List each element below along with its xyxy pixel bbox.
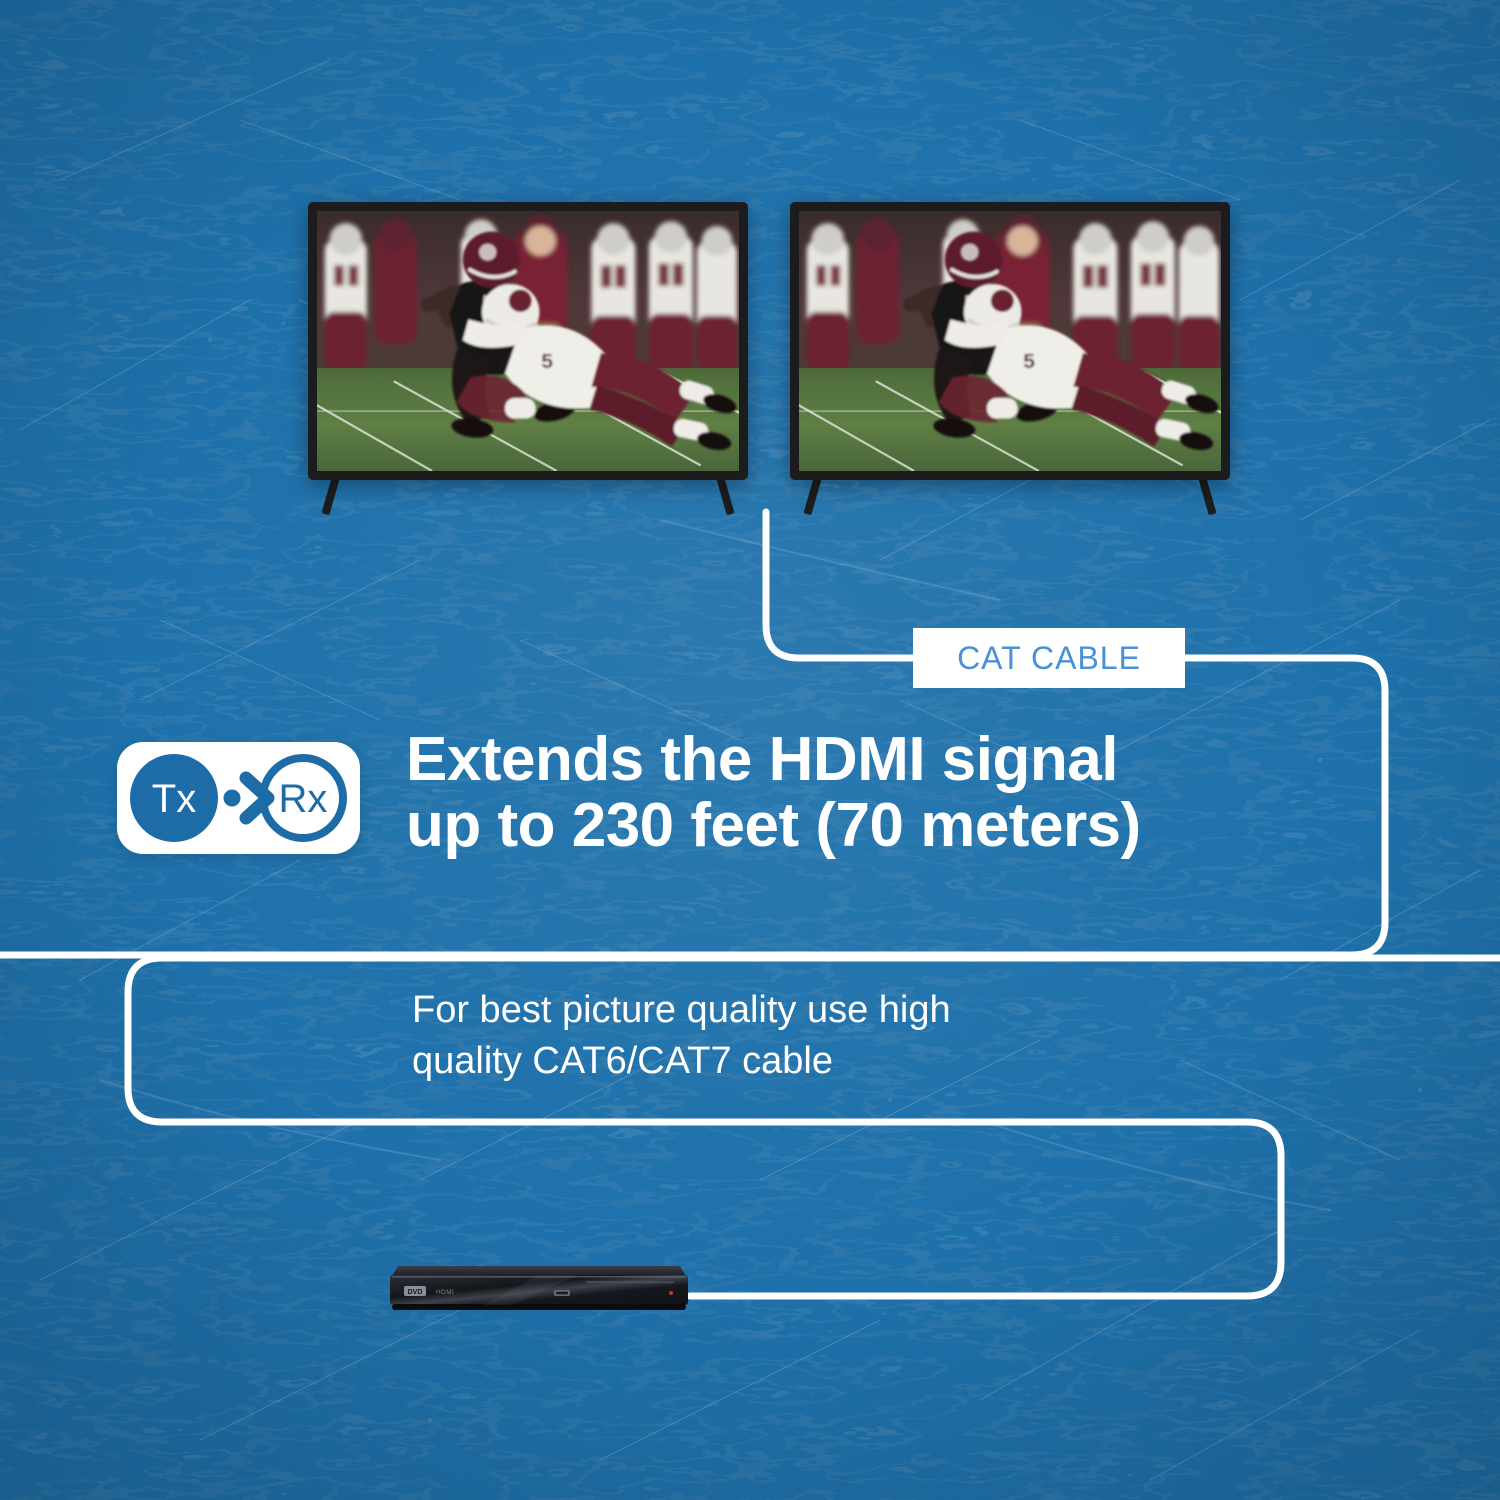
dvd-base [392,1304,686,1310]
infographic-canvas: 5 [0,0,1500,1500]
tv-left-bezel: 5 [308,202,748,480]
svg-text:5: 5 [1023,350,1035,373]
rx-label: Rx [279,777,328,821]
cat-cable-tag: CAT CABLE [913,628,1185,688]
dvd-power-led [669,1291,673,1295]
tv-left: 5 [308,202,748,512]
tx-label: Tx [152,777,196,821]
subtext-cable-quality-note: For best picture quality use high qualit… [412,985,1172,1088]
dvd-logo-text: DVD [408,1289,423,1296]
dvd-player: DVD HDMI [388,1264,690,1314]
arrow-dot-icon [224,790,241,807]
tx-rx-badge: Tx Rx [117,742,360,854]
headline-extends-hdmi-signal: Extends the HDMI signal up to 230 feet (… [406,727,1326,858]
cat-cable-tag-label: CAT CABLE [957,640,1141,677]
tx-rx-diagram-icon: Tx Rx [126,750,351,846]
tv-right-bezel: 5 5 [790,202,1230,480]
hdmi-logo-text: HDMI [436,1289,454,1296]
tv-right: 5 5 [790,202,1230,512]
tv-left-screen: 5 [317,211,739,471]
dvd-tray-slot [586,1281,674,1283]
svg-text:5: 5 [541,350,553,373]
dvd-top-panel [392,1266,686,1276]
tv-right-screen: 5 5 [799,211,1221,471]
